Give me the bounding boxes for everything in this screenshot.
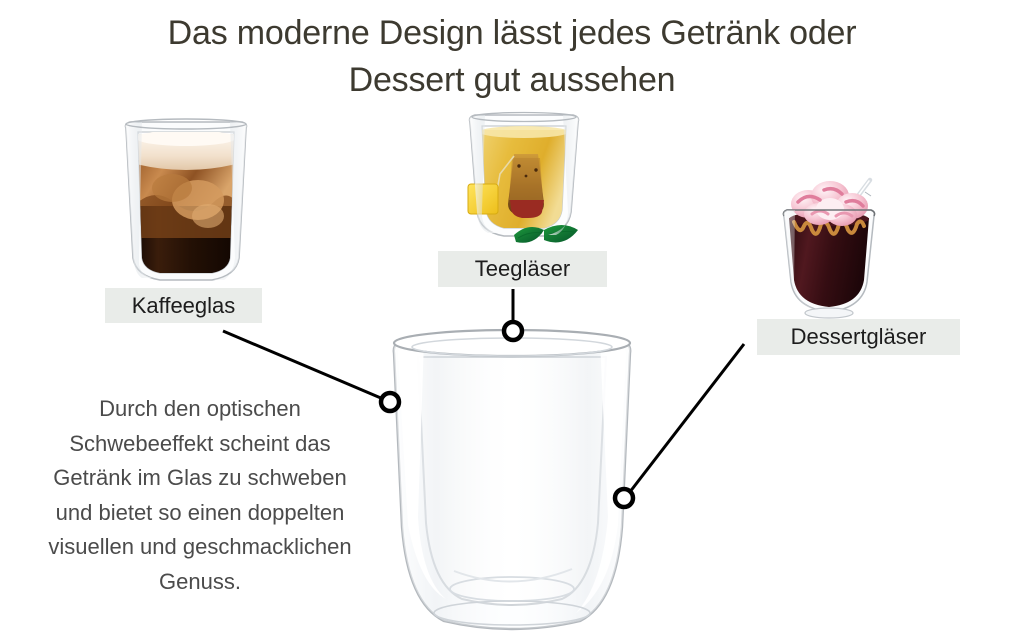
description-text: Durch den optischen Schwebeeffekt schein… — [10, 392, 390, 599]
description-line-5: visuellen und geschmacklichen — [10, 530, 390, 565]
callout-label-dessertglaeser-text: Dessertgläser — [791, 324, 927, 350]
connector-line-dessertglaeser — [626, 344, 744, 497]
description-line-4: und bietet so einen doppelten — [10, 496, 390, 531]
callout-label-teeglaeser-text: Teegläser — [475, 256, 570, 282]
connector-node-top[interactable] — [504, 322, 522, 340]
description-line-6: Genuss. — [10, 565, 390, 600]
callout-label-kaffeeglas-text: Kaffeeglas — [132, 293, 236, 319]
infographic-canvas: Das moderne Design lässt jedes Getränk o… — [0, 0, 1024, 633]
connector-node-right[interactable] — [615, 489, 633, 507]
description-line-1: Durch den optischen — [10, 392, 390, 427]
callout-label-dessertglaeser[interactable]: Dessertgläser — [757, 319, 960, 355]
description-line-3: Getränk im Glas zu schweben — [10, 461, 390, 496]
callout-label-kaffeeglas[interactable]: Kaffeeglas — [105, 288, 262, 323]
description-line-2: Schwebeeffekt scheint das — [10, 427, 390, 462]
connector-line-kaffeeglas — [223, 331, 388, 401]
callout-label-teeglaeser[interactable]: Teegläser — [438, 251, 607, 287]
